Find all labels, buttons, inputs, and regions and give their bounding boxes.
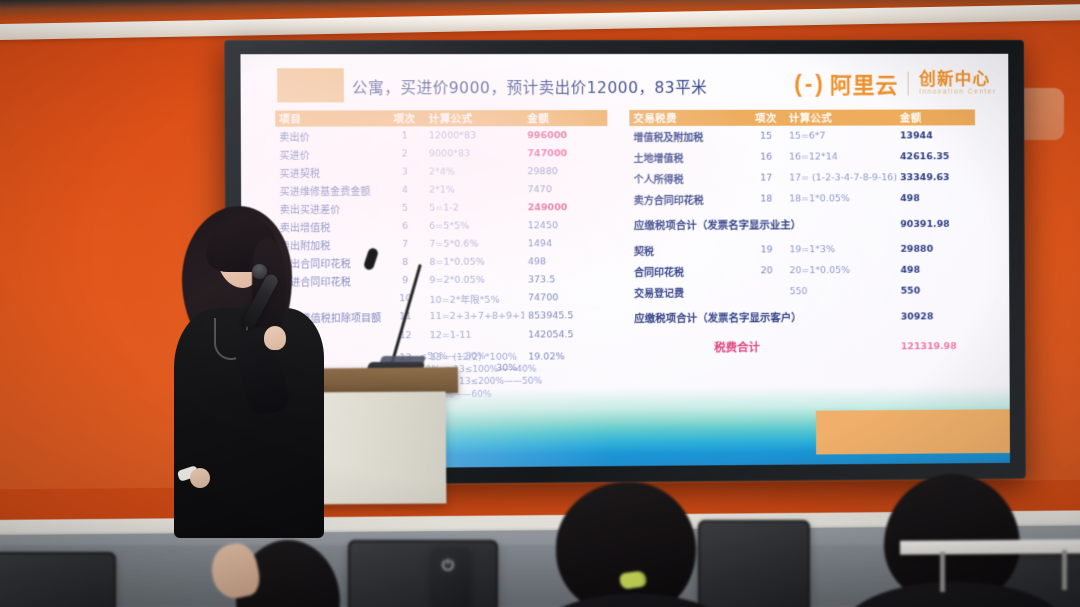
cell-formula: 9000*83	[425, 148, 524, 159]
cell-amount: 1494	[524, 238, 608, 249]
slide-accent-block	[277, 68, 344, 102]
right-table-header: 交易税费 项次 计算公式 金额	[629, 109, 975, 126]
cell-formula: 16=12*14	[785, 151, 896, 162]
slide-footer-orange-block	[816, 409, 1010, 454]
chair	[0, 552, 116, 607]
table-row: 个人所得税1717= (1-2-3-4-7-8-9-16) *20%33349.…	[630, 167, 976, 189]
desk-leg	[940, 552, 945, 592]
header-no: 项次	[747, 110, 785, 125]
power-button-icon[interactable]: ⏻	[442, 558, 454, 573]
alicloud-mark-icon: ( - )	[794, 72, 823, 95]
table-row: 买进契税32*4%29880	[275, 162, 607, 181]
header-amount: 金额	[523, 111, 607, 126]
cell-amount: 747000	[523, 148, 607, 159]
cell-no: 16	[747, 152, 785, 163]
cell-formula: 5=1-2	[425, 202, 524, 213]
cell-amount: 29880	[896, 244, 975, 255]
subtotal-owner-row: 应缴税项合计（发票名字显示业主） 90391.98	[630, 209, 976, 240]
cell-formula: 15=6*7	[785, 130, 896, 141]
cell-formula: 11=2+3+7+8+9+101	[426, 311, 525, 323]
cell-item: 买进价	[275, 146, 384, 161]
cell-no: 5	[385, 203, 425, 214]
right-table-body: 增值税及附加税1515=6*713944土地增值税1616=12*1442616…	[629, 125, 975, 210]
brand-subtitle-en: Innovation Center	[919, 89, 997, 96]
cell-no: 3	[385, 166, 425, 177]
cell-formula: 19=1*3%	[785, 244, 896, 255]
left-table-header: 项目 项次 计算公式 金额	[275, 110, 607, 127]
cell-formula: 550	[786, 286, 897, 298]
bracket-dash-icon: -	[805, 72, 813, 95]
cell-item: 土地增值税	[630, 150, 748, 165]
cell-formula: 12000*83	[425, 130, 524, 141]
cell-amount: 29880	[523, 166, 607, 177]
cell-no: 4	[385, 184, 425, 195]
header-formula: 计算公式	[425, 111, 524, 126]
bracket-right-icon: )	[815, 72, 823, 95]
bracket-left-icon: (	[794, 72, 802, 95]
table-row: 买进价29000*83747000	[275, 144, 607, 163]
grand-total-label: 税费合计	[630, 338, 897, 356]
presenter-hand-holding-mic	[264, 326, 286, 350]
cell-item: 合同印花税	[630, 263, 748, 279]
header-item: 交易税费	[629, 110, 747, 125]
table-row: 交易登记费550550	[630, 280, 976, 303]
gooseneck-microphone	[352, 246, 410, 374]
header-item: 项目	[275, 111, 384, 126]
right-table-body-2: 契税1919=1*3%29880合同印花税2020=1*0.05%498交易登记…	[630, 239, 976, 303]
cell-item: 个人所得税	[630, 171, 748, 186]
cell-formula: 2*4%	[425, 166, 524, 177]
cell-amount: 74700	[524, 292, 608, 303]
cell-amount: 996000	[523, 130, 607, 141]
cell-no: 20	[748, 265, 786, 276]
cell-no: 2	[385, 148, 425, 159]
header-formula: 计算公式	[785, 110, 896, 125]
cell-formula: 20=1*0.05%	[785, 265, 896, 276]
cell-item: 交易登记费	[630, 284, 748, 300]
cell-no: 17	[747, 173, 785, 184]
audience-shoulders	[530, 594, 740, 607]
subtotal-client-amount: 30928	[897, 311, 976, 322]
cell-amount: 498	[896, 193, 975, 204]
audience-shoulders	[840, 582, 1070, 607]
header-amount: 金额	[896, 110, 975, 125]
grand-total-row: 税费合计 121319.98	[630, 331, 976, 363]
cell-amount: 142054.5	[524, 329, 608, 340]
cell-amount: 7470	[524, 184, 608, 195]
presenter	[168, 196, 348, 536]
subtotal-owner-label: 应缴税项合计（发票名字显示业主）	[630, 217, 897, 233]
audience-member	[210, 520, 360, 607]
cell-no: 19	[748, 244, 786, 255]
subtotal-client-label: 应缴税项合计（发票名字显示客户）	[630, 309, 897, 325]
cell-formula: 10=2*年限*5%	[425, 291, 524, 306]
presentation-photo: 公寓，买进价9000，预计卖出价12000，83平米 ( - ) 阿里云 创新中…	[0, 0, 1080, 607]
brand-divider	[908, 72, 909, 96]
cell-amount: 550	[897, 285, 976, 296]
brand-subtitle: 创新中心 Innovation Center	[919, 71, 997, 96]
cell-formula: 7=5*0.6%	[425, 239, 524, 250]
cell-amount: 373.5	[524, 274, 608, 285]
cell-amount: 853945.5	[524, 311, 608, 322]
slide-title: 公寓，买进价9000，预计卖出价12000，83平米	[352, 76, 707, 98]
table-row: 合同印花税2020=1*0.05%498	[630, 259, 976, 282]
audience-member	[856, 470, 1046, 607]
cell-formula: 17= (1-2-3-4-7-8-9-16) *20%	[785, 172, 896, 183]
tax-rate-amount: 30%	[496, 363, 517, 374]
grand-total-amount: 121319.98	[897, 340, 976, 351]
audience-member	[540, 476, 730, 607]
cell-no: 6	[385, 221, 425, 232]
table-row: 卖出价112000*83996000	[275, 126, 607, 145]
cell-item: 增值税及附加税	[629, 129, 747, 144]
brand-subtitle-cn: 创新中心	[919, 71, 997, 89]
cell-formula: 12=1-11	[426, 329, 525, 341]
cell-amount: 498	[897, 264, 976, 275]
cell-amount: 249000	[524, 202, 608, 213]
mic-capsule-icon	[363, 247, 379, 271]
cell-no: 15	[747, 131, 785, 142]
desk-leg	[1062, 550, 1067, 590]
cell-formula: 8=1*0.05%	[425, 257, 524, 268]
cell-amount: 12450	[524, 220, 608, 231]
desk	[900, 539, 1080, 554]
cell-amount: 13944	[896, 130, 975, 141]
table-row: 土地增值税1616=12*1442616.35	[630, 146, 976, 168]
cell-formula: 9=2*0.05%	[425, 275, 524, 286]
right-tax-table: 交易税费 项次 计算公式 金额 增值税及附加税1515=6*713944土地增值…	[629, 109, 976, 363]
brand-logo: ( - ) 阿里云 创新中心 Innovation Center	[794, 68, 997, 100]
table-row: 卖方合同印花税1818=1*0.05%498	[630, 188, 976, 210]
header-no: 项次	[384, 111, 424, 126]
presenter-hand-lower	[190, 468, 210, 488]
subtotal-owner-amount: 90391.98	[896, 218, 975, 229]
cell-item: 买进契税	[275, 164, 384, 179]
cell-amount: 33349.63	[896, 172, 975, 183]
cell-formula: 18=1*0.05%	[785, 193, 896, 204]
cell-amount: 498	[524, 256, 608, 267]
table-row: 契税1919=1*3%29880	[630, 239, 976, 261]
cell-item: 卖出价	[275, 128, 384, 143]
cell-no: 1	[384, 130, 424, 141]
cell-no: 18	[747, 194, 785, 205]
cell-item: 卖方合同印花税	[630, 192, 748, 207]
subtotal-client-row: 应缴税项合计（发票名字显示客户） 30928	[630, 301, 976, 333]
cell-formula: 2*1%	[425, 184, 524, 195]
cell-formula: 6=5*5%	[425, 220, 524, 231]
table-row: 增值税及附加税1515=6*713944	[629, 125, 975, 147]
cell-item: 契税	[630, 243, 748, 258]
cell-amount: 42616.35	[896, 151, 975, 162]
brand-name-cn: 阿里云	[830, 68, 899, 100]
